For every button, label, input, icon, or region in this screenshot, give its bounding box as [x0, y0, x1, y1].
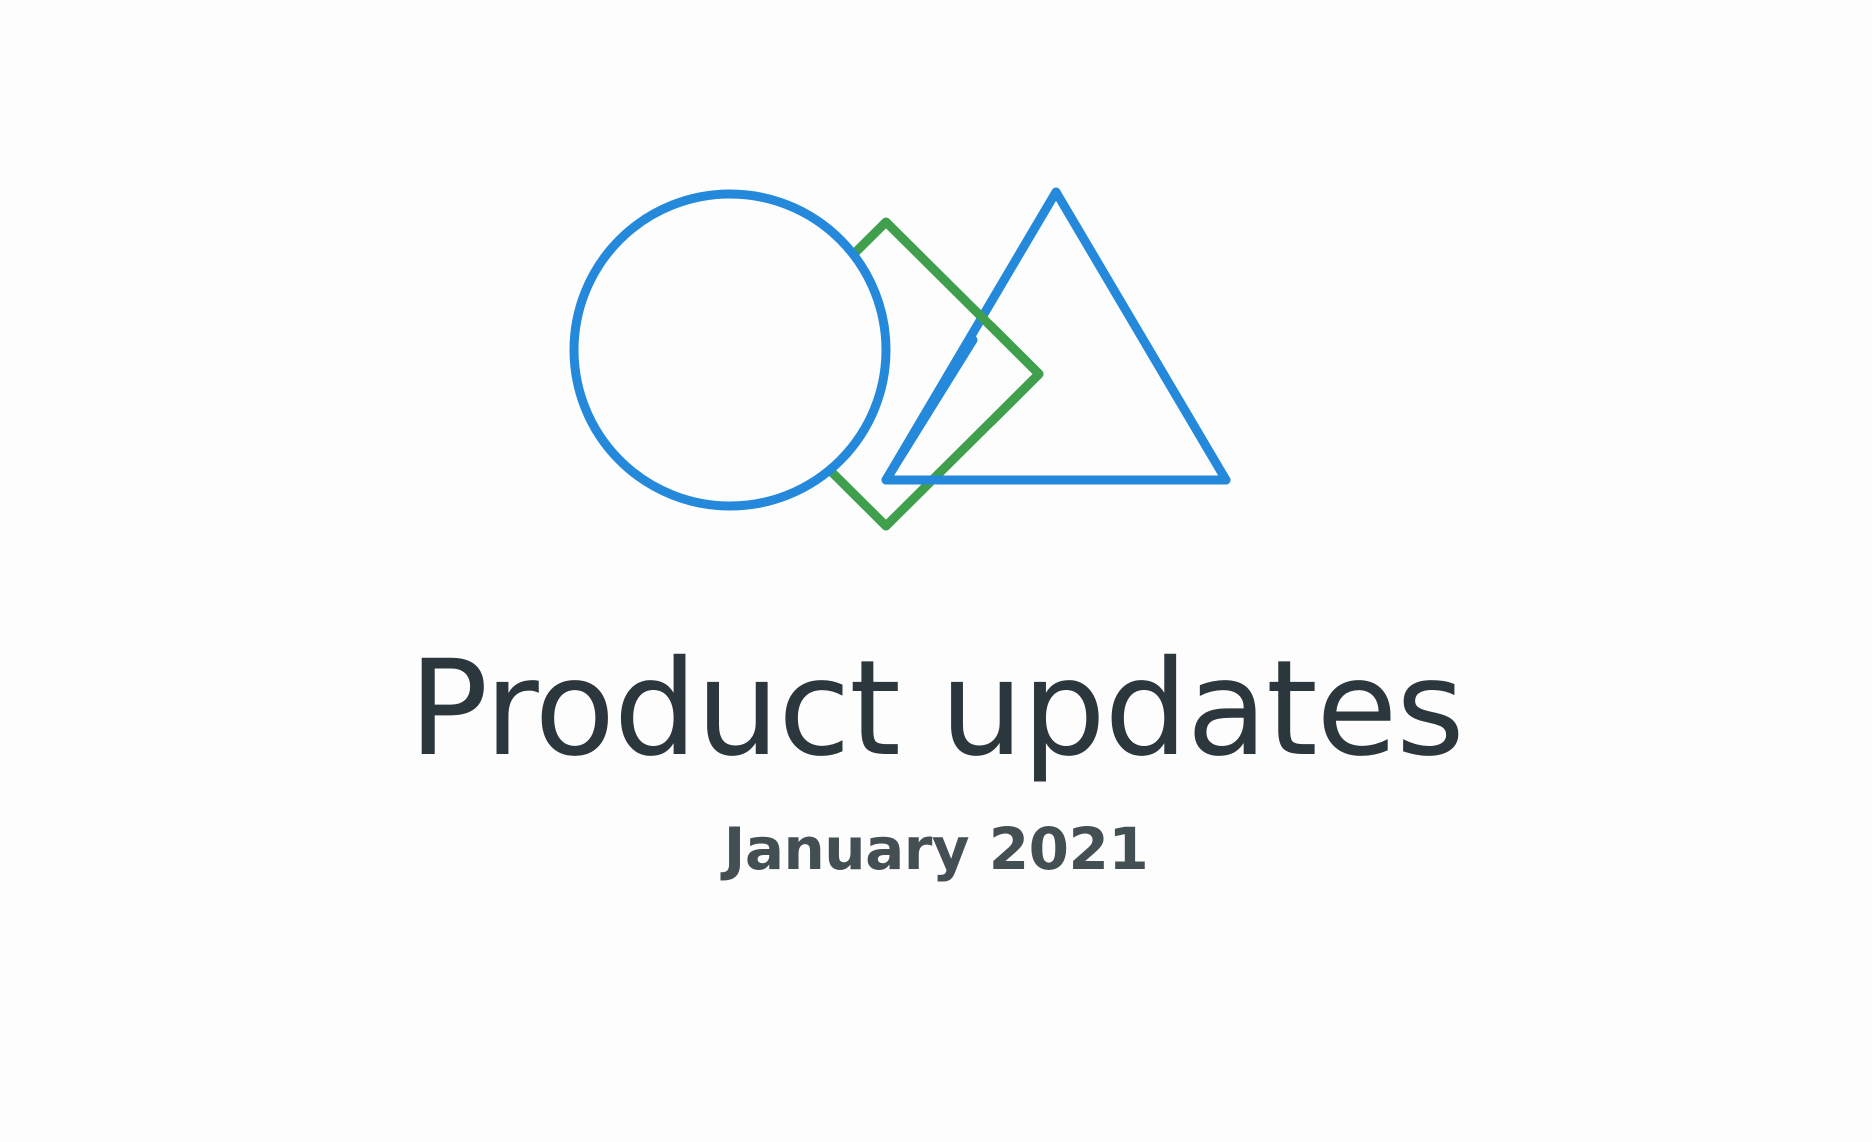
three-shapes-logo	[536, 168, 1336, 548]
triangle-outline-icon	[886, 192, 1226, 480]
triangle-left-edge-overlay	[886, 340, 1226, 480]
logo-container	[0, 168, 1872, 548]
slide-canvas: Product updates January 2021	[0, 0, 1872, 1142]
diamond-right-vertex-overlay	[991, 326, 1039, 422]
page-subtitle: January 2021	[724, 816, 1148, 883]
diamond-outline-icon	[733, 222, 1039, 526]
circle-outline-icon	[574, 194, 886, 506]
page-title: Product updates	[409, 640, 1464, 780]
text-block: Product updates January 2021	[0, 640, 1872, 883]
